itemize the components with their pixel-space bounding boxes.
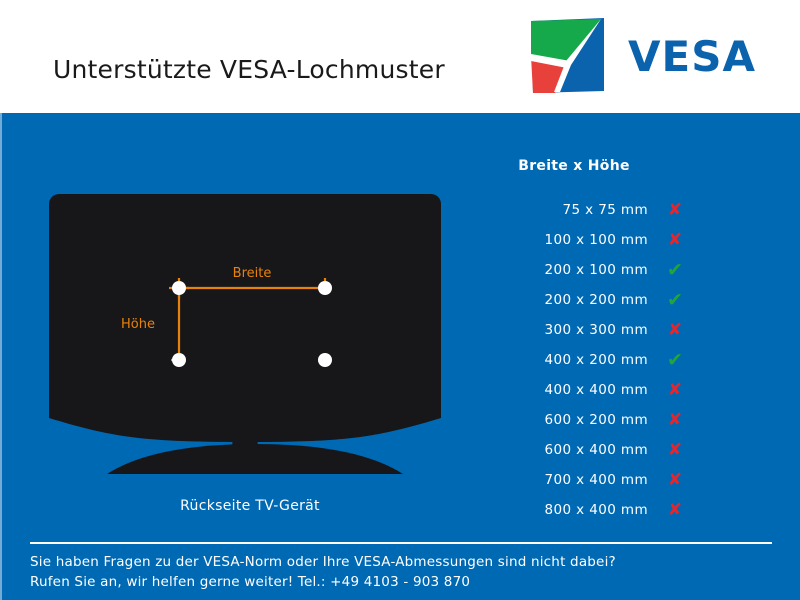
table-row: 200 x 100 mm✔ — [500, 255, 730, 285]
table-row: 800 x 400 mm✘ — [500, 495, 730, 525]
supported-check-icon: ✔ — [648, 261, 702, 280]
table-row: 600 x 400 mm✘ — [500, 435, 730, 465]
vesa-size-label: 600 x 200 mm — [500, 412, 648, 428]
table-row: 200 x 200 mm✔ — [500, 285, 730, 315]
vesa-size-label: 400 x 400 mm — [500, 382, 648, 398]
table-body: 75 x 75 mm✘100 x 100 mm✘200 x 100 mm✔200… — [500, 195, 730, 525]
panel-left-edge — [0, 113, 2, 600]
footer-divider — [30, 542, 772, 544]
table-row: 75 x 75 mm✘ — [500, 195, 730, 225]
vesa-wordmark: VESA — [628, 36, 756, 78]
tv-body — [49, 194, 441, 442]
header-bar: Unterstützte VESA-Lochmuster VESA — [0, 0, 800, 113]
table-row: 400 x 200 mm✔ — [500, 345, 730, 375]
footer-line-2: Rufen Sie an, wir helfen gerne weiter! T… — [30, 572, 616, 592]
tv-back-diagram: Breite Höhe — [45, 190, 465, 490]
mount-hole-top-left — [172, 281, 186, 295]
table-row: 600 x 200 mm✘ — [500, 405, 730, 435]
mount-hole-top-right — [318, 281, 332, 295]
vesa-infographic: Unterstützte VESA-Lochmuster VESA — [0, 0, 800, 600]
tv-stand-base — [107, 444, 403, 474]
unsupported-cross-icon: ✘ — [648, 382, 702, 399]
height-label: Höhe — [121, 317, 155, 332]
page-title: Unterstützte VESA-Lochmuster — [53, 55, 445, 84]
mount-hole-bottom-right — [318, 353, 332, 367]
supported-check-icon: ✔ — [648, 351, 702, 370]
unsupported-cross-icon: ✘ — [648, 502, 702, 519]
vesa-size-label: 400 x 200 mm — [500, 352, 648, 368]
unsupported-cross-icon: ✘ — [648, 322, 702, 339]
table-row: 400 x 400 mm✘ — [500, 375, 730, 405]
table-row: 700 x 400 mm✘ — [500, 465, 730, 495]
vesa-size-label: 300 x 300 mm — [500, 322, 648, 338]
vesa-size-label: 75 x 75 mm — [500, 202, 648, 218]
vesa-size-label: 700 x 400 mm — [500, 472, 648, 488]
vesa-size-label: 800 x 400 mm — [500, 502, 648, 518]
vesa-size-label: 100 x 100 mm — [500, 232, 648, 248]
vesa-checkmark-logo-icon — [530, 18, 605, 94]
tv-diagram-caption: Rückseite TV-Gerät — [0, 498, 500, 514]
vesa-logo: VESA — [530, 18, 780, 94]
unsupported-cross-icon: ✘ — [648, 442, 702, 459]
vesa-size-label: 200 x 100 mm — [500, 262, 648, 278]
table-row: 300 x 300 mm✘ — [500, 315, 730, 345]
unsupported-cross-icon: ✘ — [648, 472, 702, 489]
table-column-header: Breite x Höhe — [500, 158, 648, 174]
footer-contact-text: Sie haben Fragen zu der VESA-Norm oder I… — [30, 552, 616, 592]
vesa-size-label: 200 x 200 mm — [500, 292, 648, 308]
mount-hole-bottom-left — [172, 353, 186, 367]
unsupported-cross-icon: ✘ — [648, 202, 702, 219]
width-label: Breite — [233, 266, 272, 281]
unsupported-cross-icon: ✘ — [648, 232, 702, 249]
supported-check-icon: ✔ — [648, 291, 702, 310]
vesa-pattern-table: Breite x Höhe 75 x 75 mm✘100 x 100 mm✘20… — [500, 158, 730, 525]
unsupported-cross-icon: ✘ — [648, 412, 702, 429]
table-row: 100 x 100 mm✘ — [500, 225, 730, 255]
vesa-size-label: 600 x 400 mm — [500, 442, 648, 458]
footer-line-1: Sie haben Fragen zu der VESA-Norm oder I… — [30, 552, 616, 572]
